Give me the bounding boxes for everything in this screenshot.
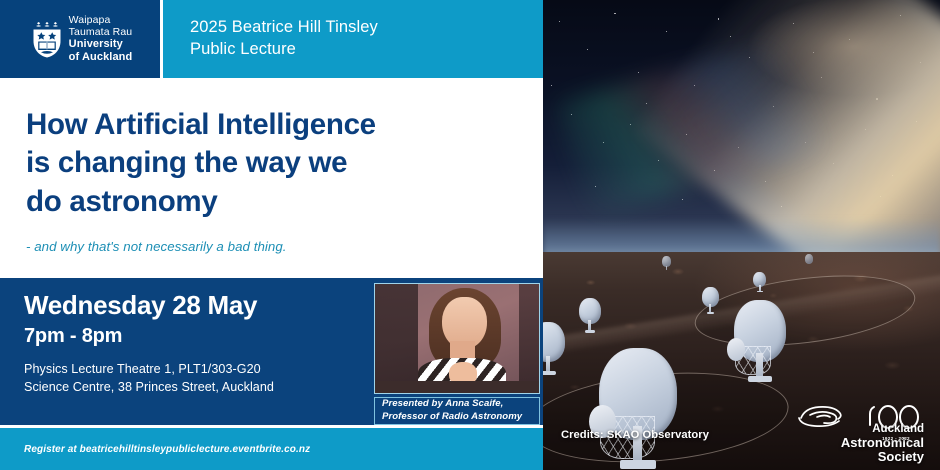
event-time: 7pm - 8pm xyxy=(24,324,369,348)
poster-header: Waipapa Taumata Rau University of Auckla… xyxy=(0,0,543,78)
event-details-text: Wednesday 28 May 7pm - 8pm Physics Lectu… xyxy=(24,291,369,397)
astronomical-society-logo: Auckland Astronomical Society 1922 - 202… xyxy=(796,401,924,455)
university-maori-line-2: Taumata Rau xyxy=(69,27,133,39)
university-maori-line-1: Waipapa xyxy=(69,15,133,27)
shield-crest-icon xyxy=(32,19,62,59)
radio-dish-icon xyxy=(753,272,766,292)
university-name-line-1: University xyxy=(69,38,133,50)
left-content-column: Waipapa Taumata Rau University of Auckla… xyxy=(0,0,543,470)
university-name-line-2: of Auckland xyxy=(69,51,133,63)
event-details-panel: Wednesday 28 May 7pm - 8pm Physics Lectu… xyxy=(0,278,543,425)
event-series-band: 2025 Beatrice Hill Tinsley Public Lectur… xyxy=(163,0,543,78)
society-anniversary-years: 1922 - 2022 xyxy=(870,436,922,441)
event-venue: Physics Lecture Theatre 1, PLT1/303-G20 … xyxy=(24,361,369,397)
event-poster: Waipapa Taumata Rau University of Auckla… xyxy=(0,0,940,470)
university-logo-band: Waipapa Taumata Rau University of Auckla… xyxy=(0,0,160,78)
event-series-title: 2025 Beatrice Hill Tinsley Public Lectur… xyxy=(163,17,378,61)
radio-dish-icon xyxy=(702,287,719,313)
speaker-caption-text: Presented by Anna Scaife, Professor of R… xyxy=(375,398,522,423)
university-logo: Waipapa Taumata Rau University of Auckla… xyxy=(28,15,133,63)
radio-dish-icon xyxy=(579,298,601,332)
night-sky xyxy=(543,0,940,258)
lecture-headline: How Artificial Intelligence is changing … xyxy=(26,106,526,221)
photo-credits: Credits: SKAO Observatory xyxy=(561,429,709,441)
lecture-subhead: - and why that's not necessarily a bad t… xyxy=(26,239,526,254)
speaker-photo xyxy=(374,283,540,394)
university-logo-text: Waipapa Taumata Rau University of Auckla… xyxy=(69,15,133,63)
registration-text[interactable]: Register at beatricehilltinsleypubliclec… xyxy=(0,444,310,455)
radio-dish-icon xyxy=(599,348,677,466)
radio-dish-icon xyxy=(734,300,786,380)
society-name-line-1: Auckland xyxy=(796,423,924,436)
society-name: Auckland Astronomical Society xyxy=(796,423,924,465)
telescope-photo-panel: Credits: SKAO Observatory Auckland Astro… xyxy=(543,0,940,470)
registration-bar[interactable]: Register at beatricehilltinsleypubliclec… xyxy=(0,428,543,470)
headline-zone: How Artificial Intelligence is changing … xyxy=(0,78,543,278)
speaker-block: Presented by Anna Scaife, Professor of R… xyxy=(374,283,540,425)
event-date: Wednesday 28 May xyxy=(24,291,369,319)
radio-dish-icon xyxy=(543,322,565,374)
radio-dish-icon xyxy=(662,256,671,270)
speaker-caption: Presented by Anna Scaife, Professor of R… xyxy=(374,397,540,425)
radio-dish-icon xyxy=(805,254,813,266)
